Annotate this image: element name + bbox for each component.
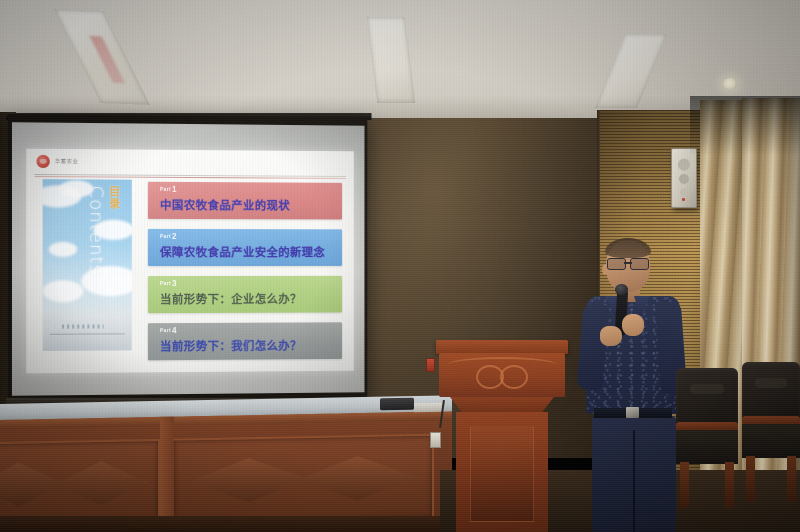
slide-body: Contents 目录 Part1 中国农牧食品产业的现状 Par (26, 179, 353, 365)
chair-2 (742, 362, 800, 518)
contents-photo: Contents 目录 (43, 179, 132, 351)
microphone-head-icon (615, 284, 628, 295)
contents-english-label: Contents (85, 185, 106, 275)
lectern (436, 340, 568, 532)
presenter-hand-right (622, 314, 644, 336)
agenda-item-3-prefix: Part (160, 281, 171, 287)
lectern-face (439, 353, 565, 397)
wainscot-panel-right (172, 434, 434, 525)
wall-speaker-icon (671, 148, 697, 208)
wood-wainscot (0, 411, 452, 532)
agenda-item-1-prefix: Part (160, 187, 171, 193)
recessed-spotlight-icon (723, 78, 737, 90)
presenter-hair (605, 238, 651, 258)
chair-1 (676, 368, 738, 518)
agenda-item-3: Part3 当前形势下：企业怎么办？ (148, 276, 342, 313)
agenda-item-4-part: Part4 (160, 326, 342, 335)
agenda-item-2-text: 保障农牧食品产业安全的新理念 (160, 244, 342, 260)
lectern-emblem-icon (474, 363, 530, 387)
glasses-icon (607, 258, 649, 268)
presentation-slide: 华蓄农业 Contents 目录 (26, 149, 353, 374)
slide-agenda-list: Part1 中国农牧食品产业的现状 Part2 保障农牧食品产业安全的新理念 (148, 180, 342, 365)
factory-building-icon (43, 298, 132, 351)
belt-buckle-icon (626, 407, 639, 418)
agenda-item-2-number: 2 (172, 232, 177, 241)
agenda-item-3-number: 3 (172, 279, 177, 288)
baseboard (0, 516, 460, 532)
agenda-item-3-text: 当前形势下：企业怎么办？ (160, 291, 342, 307)
fire-alarm-icon (426, 358, 435, 372)
screen-surface: 华蓄农业 Contents 目录 (12, 122, 364, 396)
ceiling-panel-center-icon (367, 17, 416, 103)
presenter (578, 240, 688, 532)
agenda-item-4-number: 4 (172, 326, 177, 335)
av-equipment-box (380, 398, 414, 411)
agenda-item-4: Part4 当前形势下：我们怎么办？ (148, 322, 342, 360)
agenda-item-4-prefix: Part (160, 328, 171, 334)
projector-screen[interactable]: 华蓄农业 Contents 目录 (8, 114, 368, 406)
agenda-item-1-number: 1 (172, 185, 177, 194)
lectern-neck (450, 397, 554, 413)
presenter-hand-left (600, 326, 622, 346)
agenda-item-2: Part2 保障农牧食品产业安全的新理念 (148, 229, 342, 266)
curtain-shadow (690, 96, 800, 156)
agenda-item-4-text: 当前形势下：我们怎么办？ (160, 337, 342, 354)
contents-chinese-label: 目录 (106, 186, 122, 210)
agenda-item-2-prefix: Part (160, 234, 171, 240)
slide-logo-text: 华蓄农业 (55, 157, 79, 164)
ceiling-panel-left-icon (54, 9, 150, 105)
company-logo-icon (37, 154, 50, 167)
agenda-item-1-part: Part1 (160, 186, 342, 195)
agenda-item-2-part: Part2 (160, 233, 342, 241)
agenda-item-3-part: Part3 (160, 280, 342, 288)
conference-room-photo: 华蓄农业 Contents 目录 (0, 0, 800, 532)
lectern-top (436, 340, 568, 354)
presenter-legs (592, 416, 676, 532)
agenda-item-1-text: 中国农牧食品产业的现状 (160, 197, 342, 214)
slide-header: 华蓄农业 (26, 149, 353, 175)
agenda-item-1: Part1 中国农牧食品产业的现状 (148, 182, 342, 220)
lectern-body (456, 412, 548, 532)
